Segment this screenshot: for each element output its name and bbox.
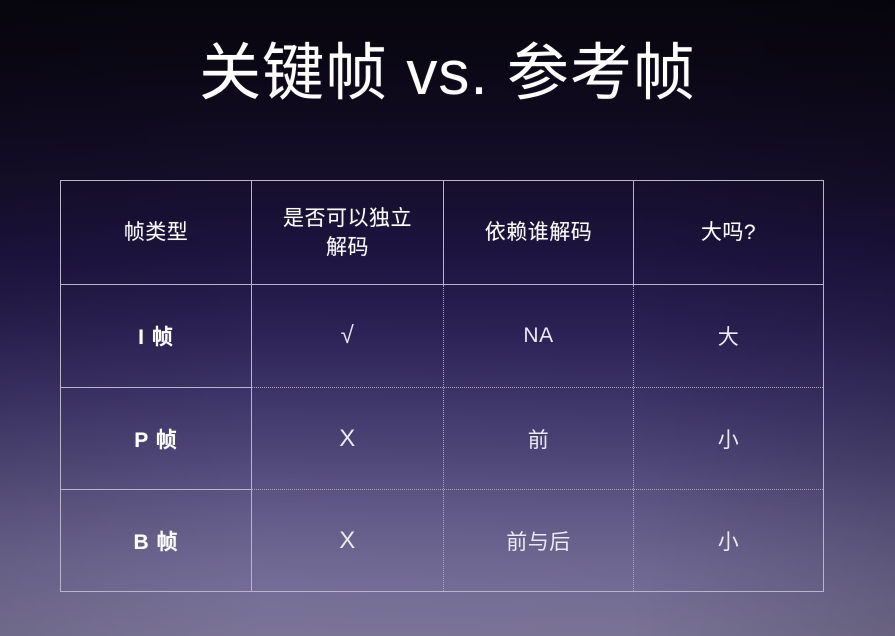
value-size: 大 (718, 321, 740, 351)
cell-depends-on: NA (444, 285, 634, 387)
value-size: 小 (718, 424, 740, 454)
cell-size: 小 (634, 388, 823, 489)
value-independent-decode: X (339, 527, 356, 555)
cell-frame-type: P 帧 (61, 388, 252, 489)
value-frame-type: P 帧 (134, 424, 177, 454)
header-label-frame-type: 帧类型 (124, 218, 189, 247)
cell-independent-decode: √ (252, 285, 444, 387)
cell-frame-type: I 帧 (61, 285, 252, 387)
table-row: I 帧 √ NA 大 (61, 285, 823, 387)
value-frame-type: B 帧 (134, 526, 179, 556)
value-size: 小 (718, 526, 740, 556)
value-independent-decode: √ (341, 322, 355, 350)
value-independent-decode: X (339, 425, 356, 453)
value-depends-on: 前与后 (506, 526, 571, 556)
value-frame-type: I 帧 (138, 321, 174, 351)
page-title: 关键帧 vs. 参考帧 (0, 34, 895, 114)
cell-independent-decode: X (252, 388, 444, 489)
table-header-cell-depends-on: 依赖谁解码 (444, 181, 634, 284)
cell-size: 小 (634, 490, 823, 591)
header-label-line1: 是否可以独立 (283, 207, 412, 230)
table-header-cell-frame-type: 帧类型 (61, 181, 252, 284)
table-row: P 帧 X 前 小 (61, 387, 823, 489)
cell-depends-on: 前 (444, 388, 634, 489)
header-label-line2: 解码 (326, 236, 369, 259)
table-row: B 帧 X 前与后 小 (61, 489, 823, 591)
value-depends-on: NA (523, 324, 553, 348)
cell-depends-on: 前与后 (444, 490, 634, 591)
header-label-size: 大吗? (701, 218, 756, 247)
frame-comparison-table: 帧类型 是否可以独立 解码 依赖谁解码 大吗? I 帧 √ (60, 180, 824, 592)
table-header-cell-independent-decode: 是否可以独立 解码 (252, 181, 444, 284)
cell-independent-decode: X (252, 490, 444, 591)
header-label-depends-on: 依赖谁解码 (485, 218, 593, 247)
slide-canvas: 关键帧 vs. 参考帧 帧类型 是否可以独立 解码 依赖谁解码 大吗? (0, 0, 895, 636)
table-header-cell-size: 大吗? (634, 181, 823, 284)
cell-frame-type: B 帧 (61, 490, 252, 591)
header-label-independent-decode: 是否可以独立 解码 (283, 204, 412, 262)
value-depends-on: 前 (528, 424, 550, 454)
table-header-row: 帧类型 是否可以独立 解码 依赖谁解码 大吗? (61, 181, 823, 285)
cell-size: 大 (634, 285, 823, 387)
